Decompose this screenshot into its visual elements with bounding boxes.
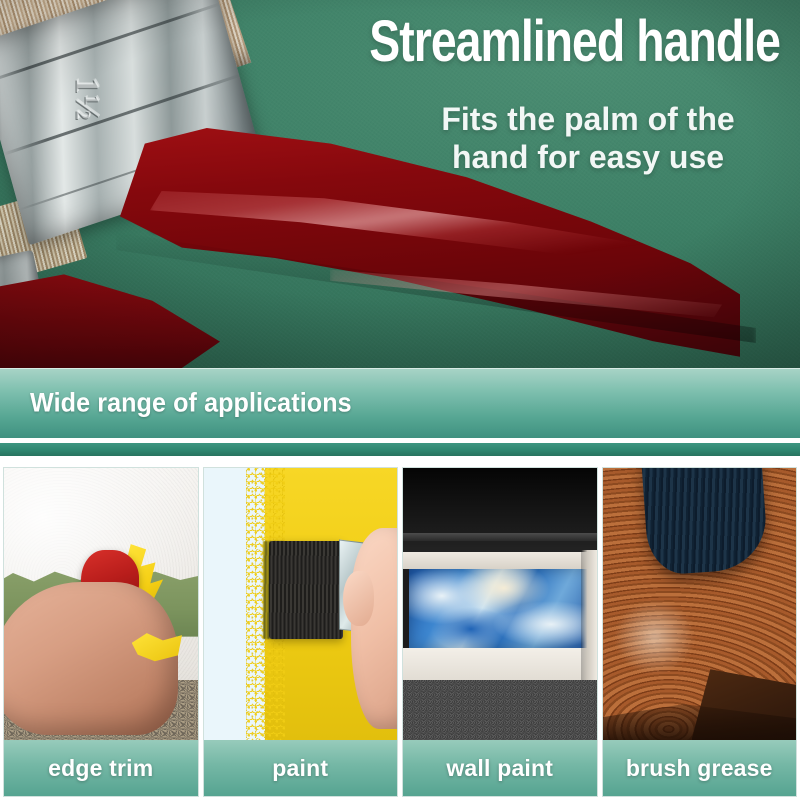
applications-gallery: edge trim paint <box>0 462 800 800</box>
application-photo-wall-paint <box>403 468 597 740</box>
application-photo-paint <box>204 468 398 740</box>
blue-wall-mural <box>409 569 591 648</box>
hero-title: Streamlined handle <box>156 12 780 72</box>
application-card-paint[interactable]: paint <box>204 468 398 796</box>
grey-carpet-floor <box>403 680 597 740</box>
hero-subtitle-line-1: Fits the palm of the <box>398 100 778 138</box>
upper-wall <box>403 552 597 568</box>
application-card-wall-paint[interactable]: wall paint <box>403 468 597 796</box>
applications-banner-label: Wide range of applications <box>30 388 352 419</box>
lower-wall <box>403 648 597 681</box>
application-card-brush-grease[interactable]: brush grease <box>603 468 797 796</box>
hero-subtitle: Fits the palm of the hand for easy use <box>398 100 778 177</box>
application-caption: brush grease <box>603 740 797 796</box>
brush-bristles-dark <box>269 541 343 639</box>
application-photo-brush-grease <box>603 468 797 740</box>
banner-divider-rule <box>0 443 800 456</box>
hero-section: 1½ Streamlined handle Fits the palm of t… <box>0 0 800 368</box>
hero-subtitle-line-2: hand for easy use <box>398 138 778 176</box>
thumb <box>343 571 374 625</box>
application-caption: edge trim <box>4 740 198 796</box>
application-caption: paint <box>204 740 398 796</box>
ceiling-beam <box>403 533 597 541</box>
wall-pillar <box>581 550 596 681</box>
product-feature-poster: 1½ Streamlined handle Fits the palm of t… <box>0 0 800 800</box>
hand <box>351 528 397 729</box>
application-card-edge-trim[interactable]: edge trim <box>4 468 198 796</box>
application-photo-edge-trim <box>4 468 198 740</box>
wet-finish-sheen <box>614 599 695 675</box>
applications-banner: Wide range of applications <box>0 368 800 438</box>
application-caption: wall paint <box>403 740 597 796</box>
